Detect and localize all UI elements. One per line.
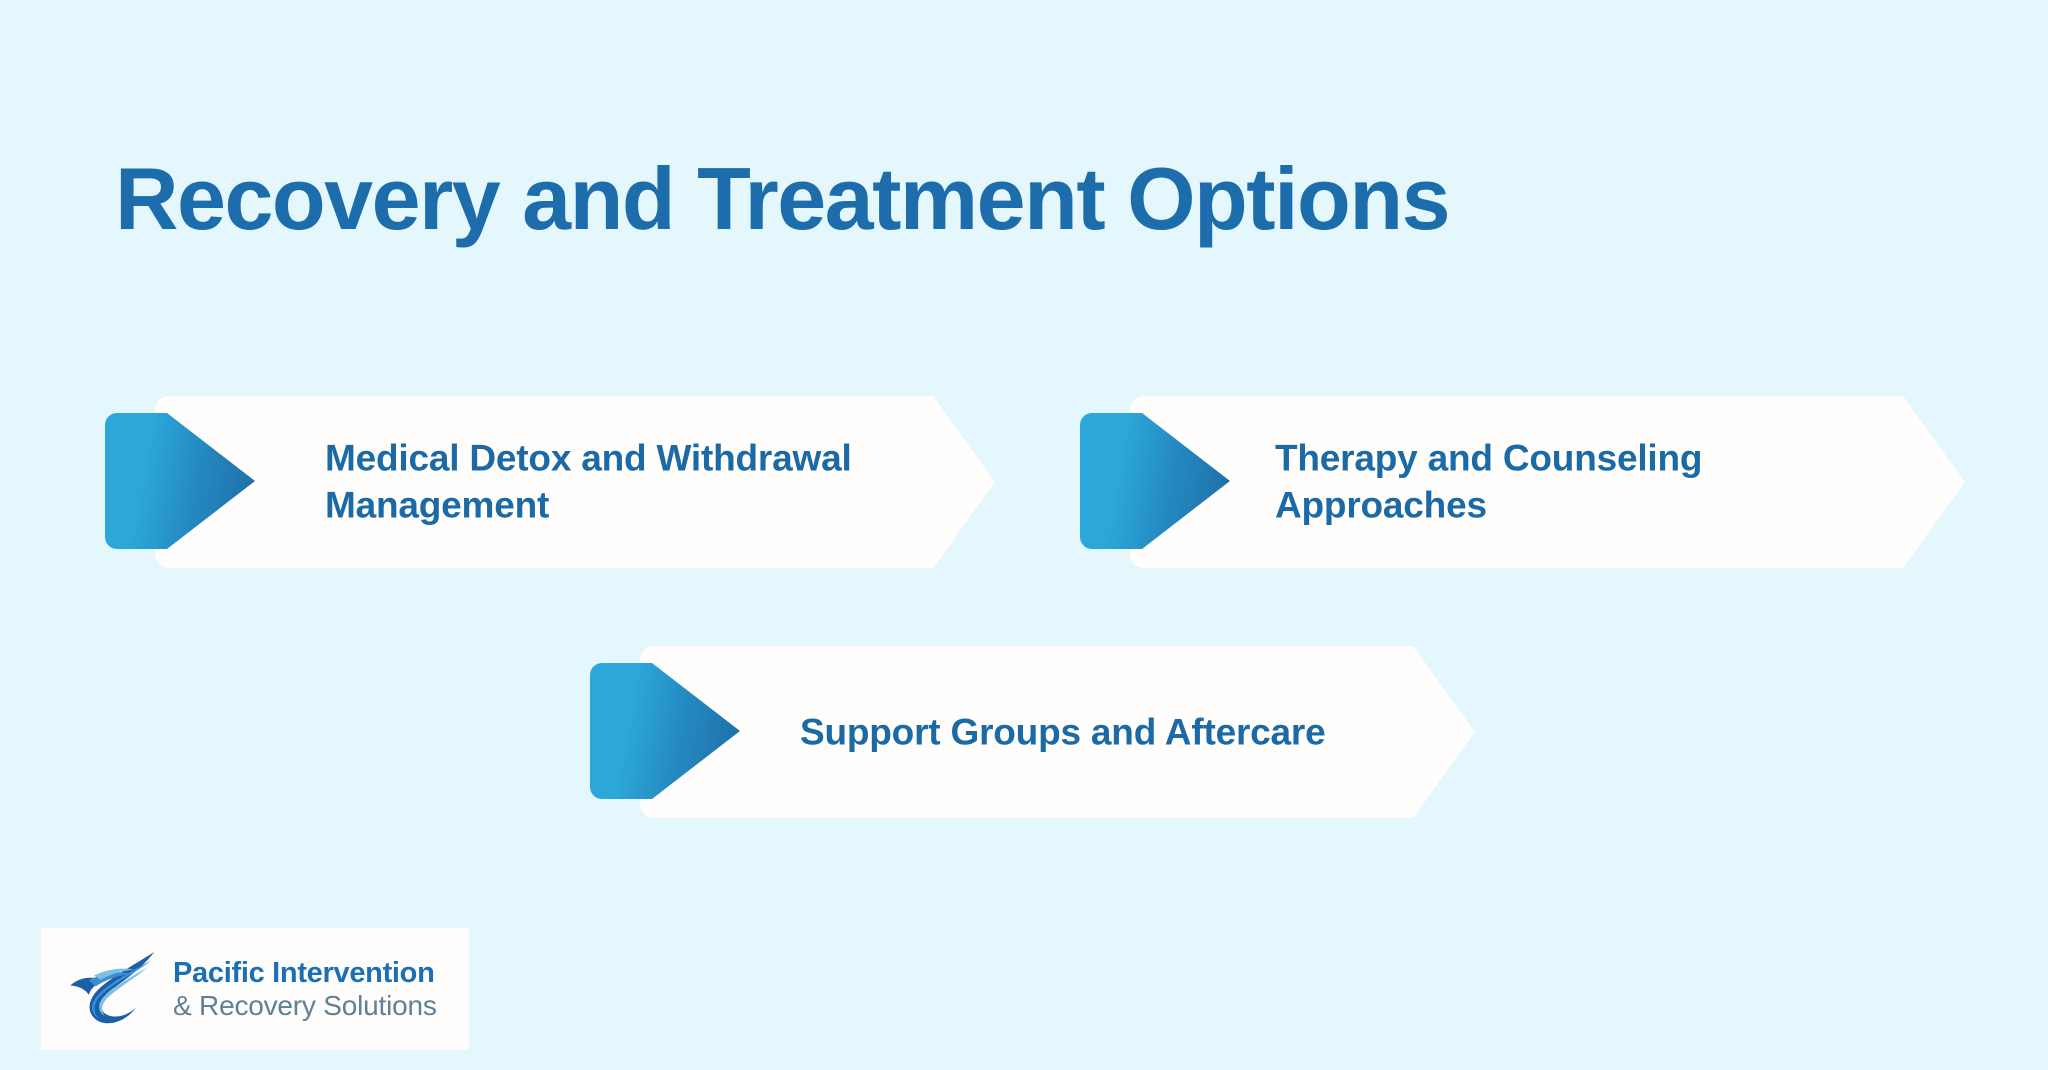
bird-wave-logo-icon — [63, 947, 165, 1031]
option-card-therapy-counseling[interactable]: Therapy and Counseling Approaches — [1130, 396, 1965, 568]
page-title: Recovery and Treatment Options — [0, 152, 1564, 245]
slide-canvas: Recovery and Treatment Options Medical D… — [0, 0, 2048, 1070]
option-card-label: Support Groups and Aftercare — [800, 708, 1420, 755]
logo-lockup: Pacific Intervention & Recovery Solution… — [41, 928, 469, 1050]
logo-secondary-text: & Recovery Solutions — [173, 990, 437, 1021]
option-card-label: Therapy and Counseling Approaches — [1275, 435, 1915, 530]
option-card-medical-detox[interactable]: Medical Detox and Withdrawal Management — [155, 396, 995, 568]
logo-text-block: Pacific Intervention & Recovery Solution… — [173, 957, 437, 1021]
option-card-label: Medical Detox and Withdrawal Management — [325, 435, 945, 530]
logo-primary-text: Pacific Intervention — [173, 957, 437, 989]
option-card-support-groups[interactable]: Support Groups and Aftercare — [640, 646, 1475, 818]
